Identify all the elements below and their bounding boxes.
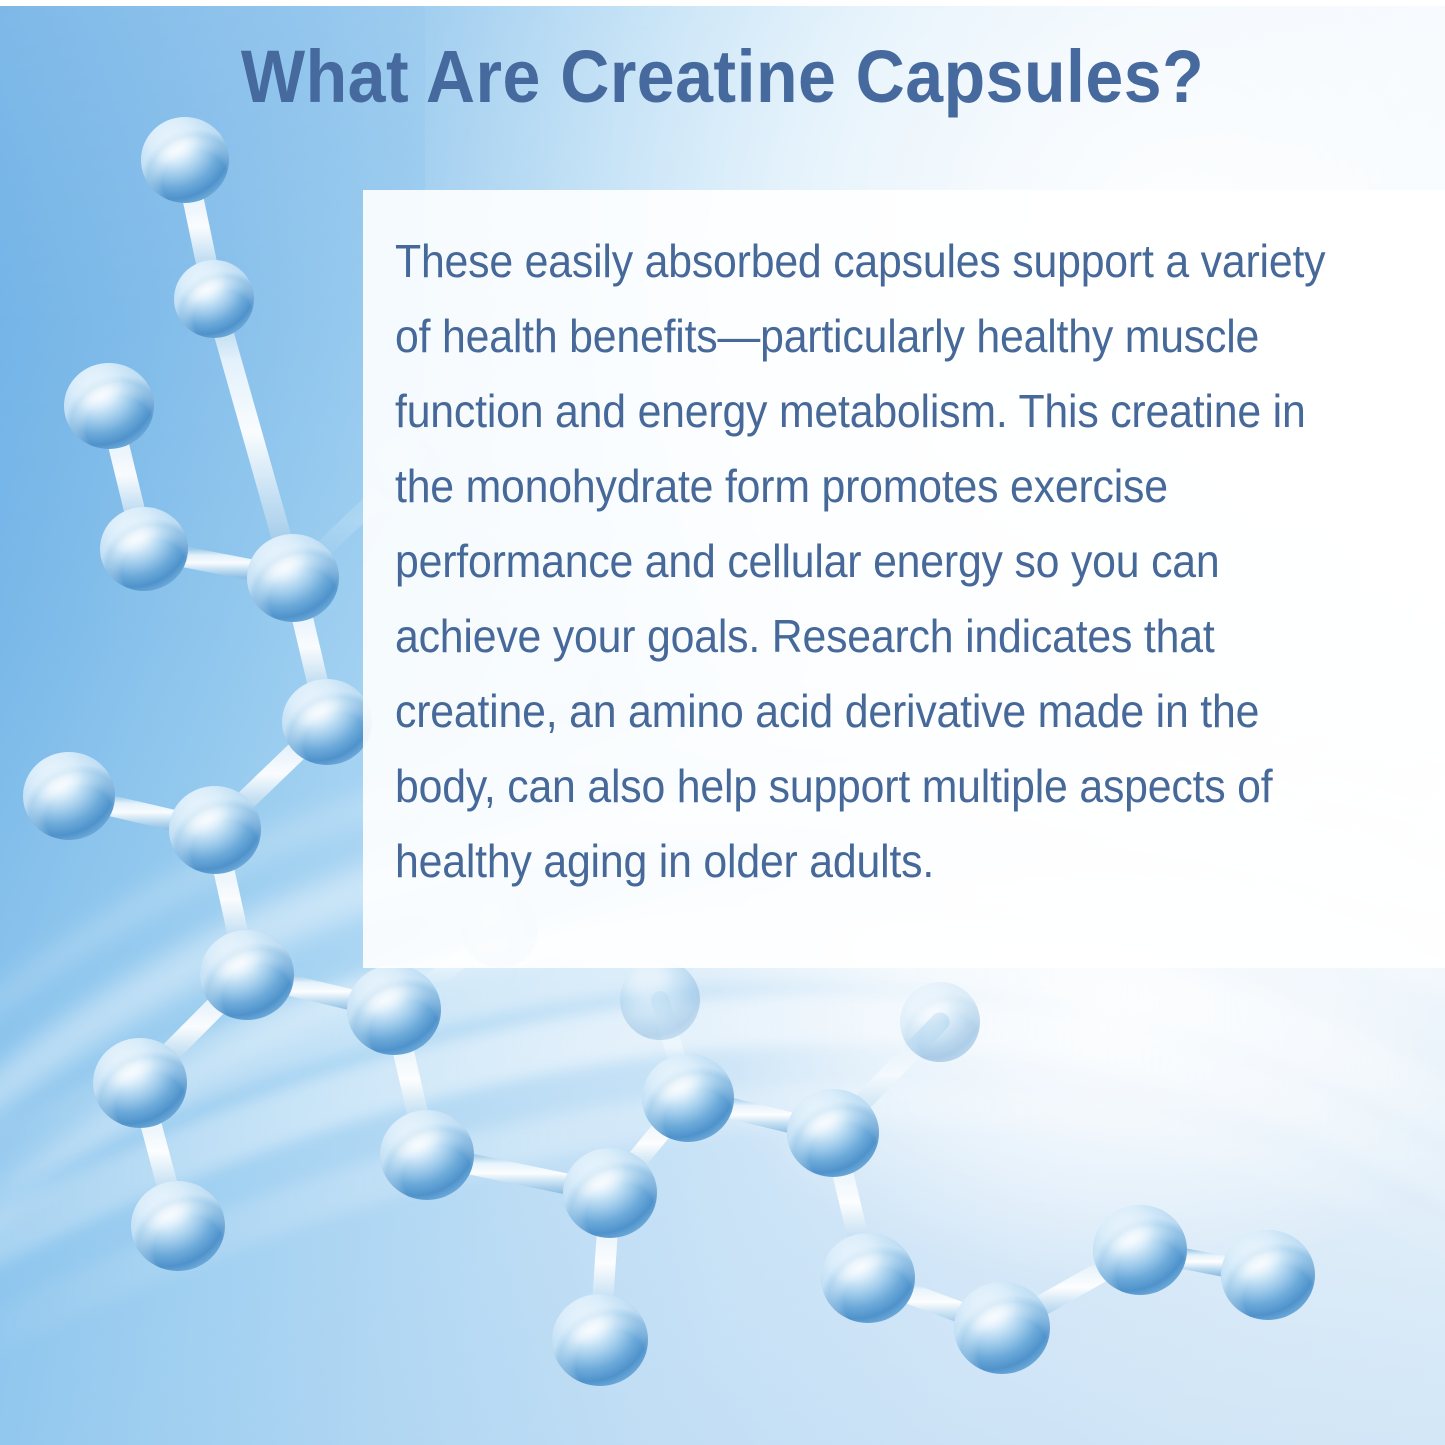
top-white-strip bbox=[0, 0, 1445, 6]
content-panel: These easily absorbed capsules support a… bbox=[363, 190, 1445, 968]
poster-canvas: These easily absorbed capsules support a… bbox=[0, 0, 1445, 1445]
content-panel-inner: These easily absorbed capsules support a… bbox=[395, 224, 1419, 899]
body-paragraph: These easily absorbed capsules support a… bbox=[395, 224, 1347, 899]
page-title: What Are Creatine Capsules? bbox=[58, 36, 1387, 118]
